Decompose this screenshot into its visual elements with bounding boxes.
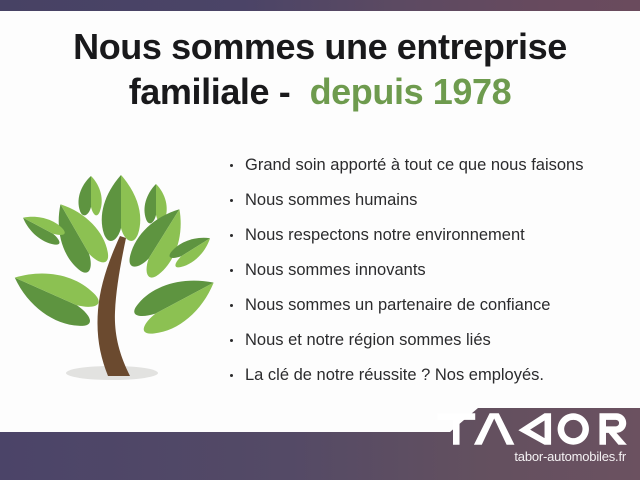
leaf-top-center [102,175,141,241]
list-item-label: La clé de notre réussite ? Nos employés. [245,366,544,384]
list-item: La clé de notre réussite ? Nos employés. [228,358,628,393]
bullet-dot-icon [230,199,233,202]
bullet-dot-icon [230,304,233,307]
bullet-dot-icon [230,269,233,272]
brand-logo[interactable]: tabor-automobiles.fr [436,412,626,464]
title-dash: - [269,71,309,112]
leaf-top-left-small [78,176,101,215]
title-accent-depuis-1978: depuis 1978 [310,71,512,112]
list-item: Nous respectons notre environnement [228,218,628,253]
tree-illustration [8,150,222,390]
title-line-2: familiale - depuis 1978 [0,71,640,113]
bullet-dot-icon [230,164,233,167]
footer-brand-bar: tabor-automobiles.fr [0,400,640,480]
list-item-label: Nous respectons notre environnement [245,226,525,244]
list-item: Nous sommes un partenaire de confiance [228,288,628,323]
list-item-label: Nous sommes innovants [245,261,426,279]
list-item-label: Nous et notre région sommes liés [245,331,491,349]
bullet-dot-icon [230,339,233,342]
bullet-dot-icon [230,374,233,377]
list-item: Nous sommes innovants [228,253,628,288]
slide-canvas: Nous sommes une entreprise familiale - d… [0,0,640,480]
list-item-label: Nous sommes humains [245,191,417,209]
list-item: Nous et notre région sommes liés [228,323,628,358]
bullet-dot-icon [230,234,233,237]
top-accent-bar [0,0,640,11]
page-title: Nous sommes une entreprise familiale - d… [0,26,640,113]
list-item-label: Nous sommes un partenaire de confiance [245,296,550,314]
title-line-1: Nous sommes une entreprise [0,26,640,68]
list-item: Nous sommes humains [228,183,628,218]
tabor-wordmark-icon [436,412,626,446]
brand-website-url: tabor-automobiles.fr [436,449,626,464]
title-word-familiale: familiale [129,71,269,112]
leaf-lower-right [130,264,222,341]
list-item: Grand soin apporté à tout ce que nous fa… [228,148,628,183]
value-proposition-list: Grand soin apporté à tout ce que nous fa… [228,148,628,393]
list-item-label: Grand soin apporté à tout ce que nous fa… [245,156,583,174]
